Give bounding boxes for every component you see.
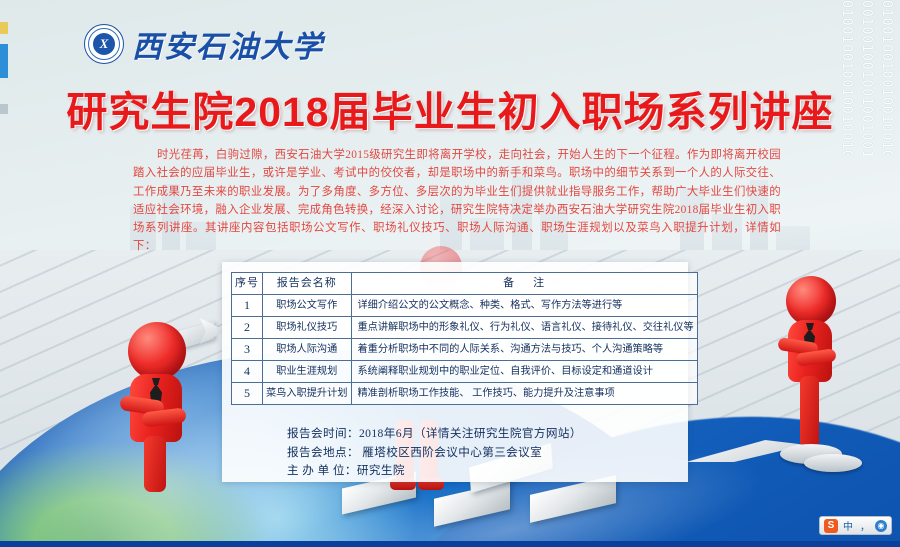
cell-no: 2 <box>232 317 263 339</box>
cell-name: 菜鸟入职提升计划 <box>263 383 352 405</box>
ime-toolbar[interactable]: S 中 ， ◉ <box>819 516 892 535</box>
footer-host: 主 办 单 位：研究生院 <box>287 462 735 481</box>
cell-note: 精准剖析职场工作技能、 工作技巧、能力提升及注意事项 <box>351 383 697 405</box>
figure-pedestal <box>804 454 862 472</box>
table-row: 1 职场公文写作 详细介绍公文的公文概念、种类、格式、写作方法等进行等 <box>232 295 698 317</box>
figure-leg <box>144 436 166 492</box>
page-title: 研究生院2018届毕业生初入职场系列讲座 <box>0 78 900 138</box>
table-header-row: 序号 报告会名称 备 注 <box>232 273 698 295</box>
table-row: 4 职业生涯规划 系统阐释职业规划中的职业定位、自我评价、目标设定和通道设计 <box>232 361 698 383</box>
step-block-4 <box>530 475 616 523</box>
figure-head <box>786 276 836 326</box>
university-logo: X 西安石油大学 <box>84 22 324 66</box>
university-name: 西安石油大学 <box>132 22 324 66</box>
ime-punct-icon[interactable]: ， <box>858 519 872 533</box>
sogou-logo-icon[interactable]: S <box>824 519 838 533</box>
cell-note: 着重分析职场中不同的人际关系、沟通方法与技巧、个人沟通策略等 <box>351 339 697 361</box>
figure-leg <box>800 376 819 448</box>
taskbar-strip <box>0 541 900 547</box>
figure-businessman-right <box>770 276 890 474</box>
edge-chip-blue <box>0 44 8 78</box>
cell-note: 重点讲解职场中的形象礼仪、行为礼仪、语言礼仪、接待礼仪、交往礼仪等 <box>351 317 697 339</box>
cell-note: 详细介绍公文的公文概念、种类、格式、写作方法等进行等 <box>351 295 697 317</box>
column-header-no: 序号 <box>232 273 263 295</box>
emblem-letter: X <box>93 33 115 55</box>
lecture-schedule-table: 序号 报告会名称 备 注 1 职场公文写作 详细介绍公文的公文概念、种类、格式、… <box>231 272 698 405</box>
ime-mode-icon[interactable]: 中 <box>841 519 855 533</box>
column-header-note: 备 注 <box>351 273 697 295</box>
table-row: 5 菜鸟入职提升计划 精准剖析职场工作技能、 工作技巧、能力提升及注意事项 <box>232 383 698 405</box>
table-row: 2 职场礼仪技巧 重点讲解职场中的形象礼仪、行为礼仪、语言礼仪、接待礼仪、交往礼… <box>232 317 698 339</box>
poster-footer: 报告会时间：2018年6月（详情关注研究生院官方网站） 报告会地点： 雁塔校区西… <box>231 425 735 481</box>
poster-canvas: 010010010010010010010010010 001001001001… <box>0 0 900 547</box>
table-row: 3 职场人际沟通 着重分析职场中不同的人际关系、沟通方法与技巧、个人沟通策略等 <box>232 339 698 361</box>
cell-name: 职场公文写作 <box>263 295 352 317</box>
cell-no: 4 <box>232 361 263 383</box>
footer-place: 报告会地点： 雁塔校区西阶会议中心第三会议室 <box>287 444 735 463</box>
university-emblem-icon: X <box>84 24 124 64</box>
cell-no: 3 <box>232 339 263 361</box>
cell-name: 职业生涯规划 <box>263 361 352 383</box>
edge-chip-yellow <box>0 22 8 34</box>
figure-head <box>128 322 186 380</box>
cell-note: 系统阐释职业规划中的职业定位、自我评价、目标设定和通道设计 <box>351 361 697 383</box>
cell-name: 职场人际沟通 <box>263 339 352 361</box>
column-header-name: 报告会名称 <box>263 273 352 295</box>
figure-businessman-left <box>106 322 226 492</box>
cell-no: 1 <box>232 295 263 317</box>
cell-no: 5 <box>232 383 263 405</box>
body-paragraph: 时光荏苒，白驹过隙，西安石油大学2015级研究生即将离开学校，走向社会，开始人生… <box>133 146 781 256</box>
cell-name: 职场礼仪技巧 <box>263 317 352 339</box>
footer-time: 报告会时间：2018年6月（详情关注研究生院官方网站） <box>287 425 735 444</box>
ime-menu-icon[interactable]: ◉ <box>875 520 887 532</box>
